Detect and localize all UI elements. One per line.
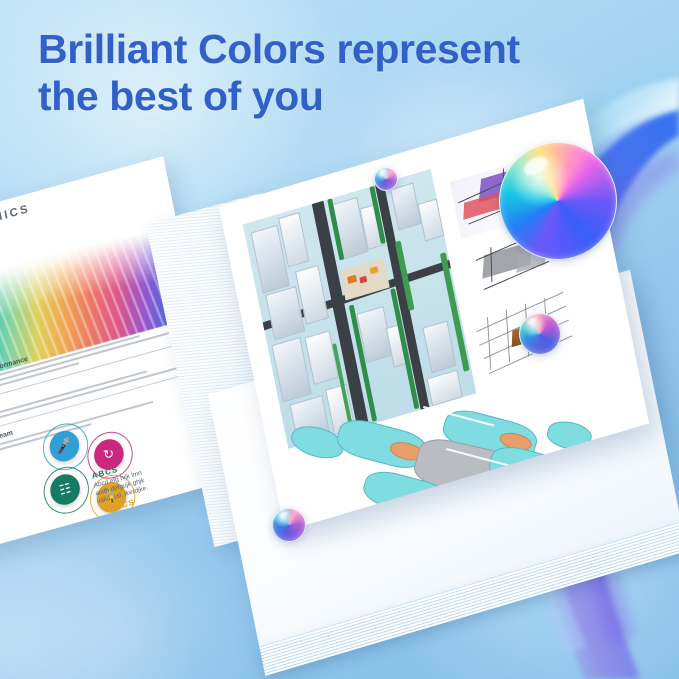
bubble-small [374, 167, 398, 191]
caption-label: ABCS [0, 485, 4, 509]
bubble-stack [272, 508, 306, 542]
caption-block: ABCS Abcd efg hijk lmn aoith defgujk ghj… [0, 485, 9, 535]
bubble-big [499, 142, 617, 260]
bubble-mid [519, 313, 561, 355]
marketing-banner: CTOR INFOGRAPHICS Table Premium Quality … [0, 0, 679, 679]
sheet-edges [259, 521, 679, 675]
page-title: Brilliant Colors represent the best of y… [38, 26, 598, 120]
